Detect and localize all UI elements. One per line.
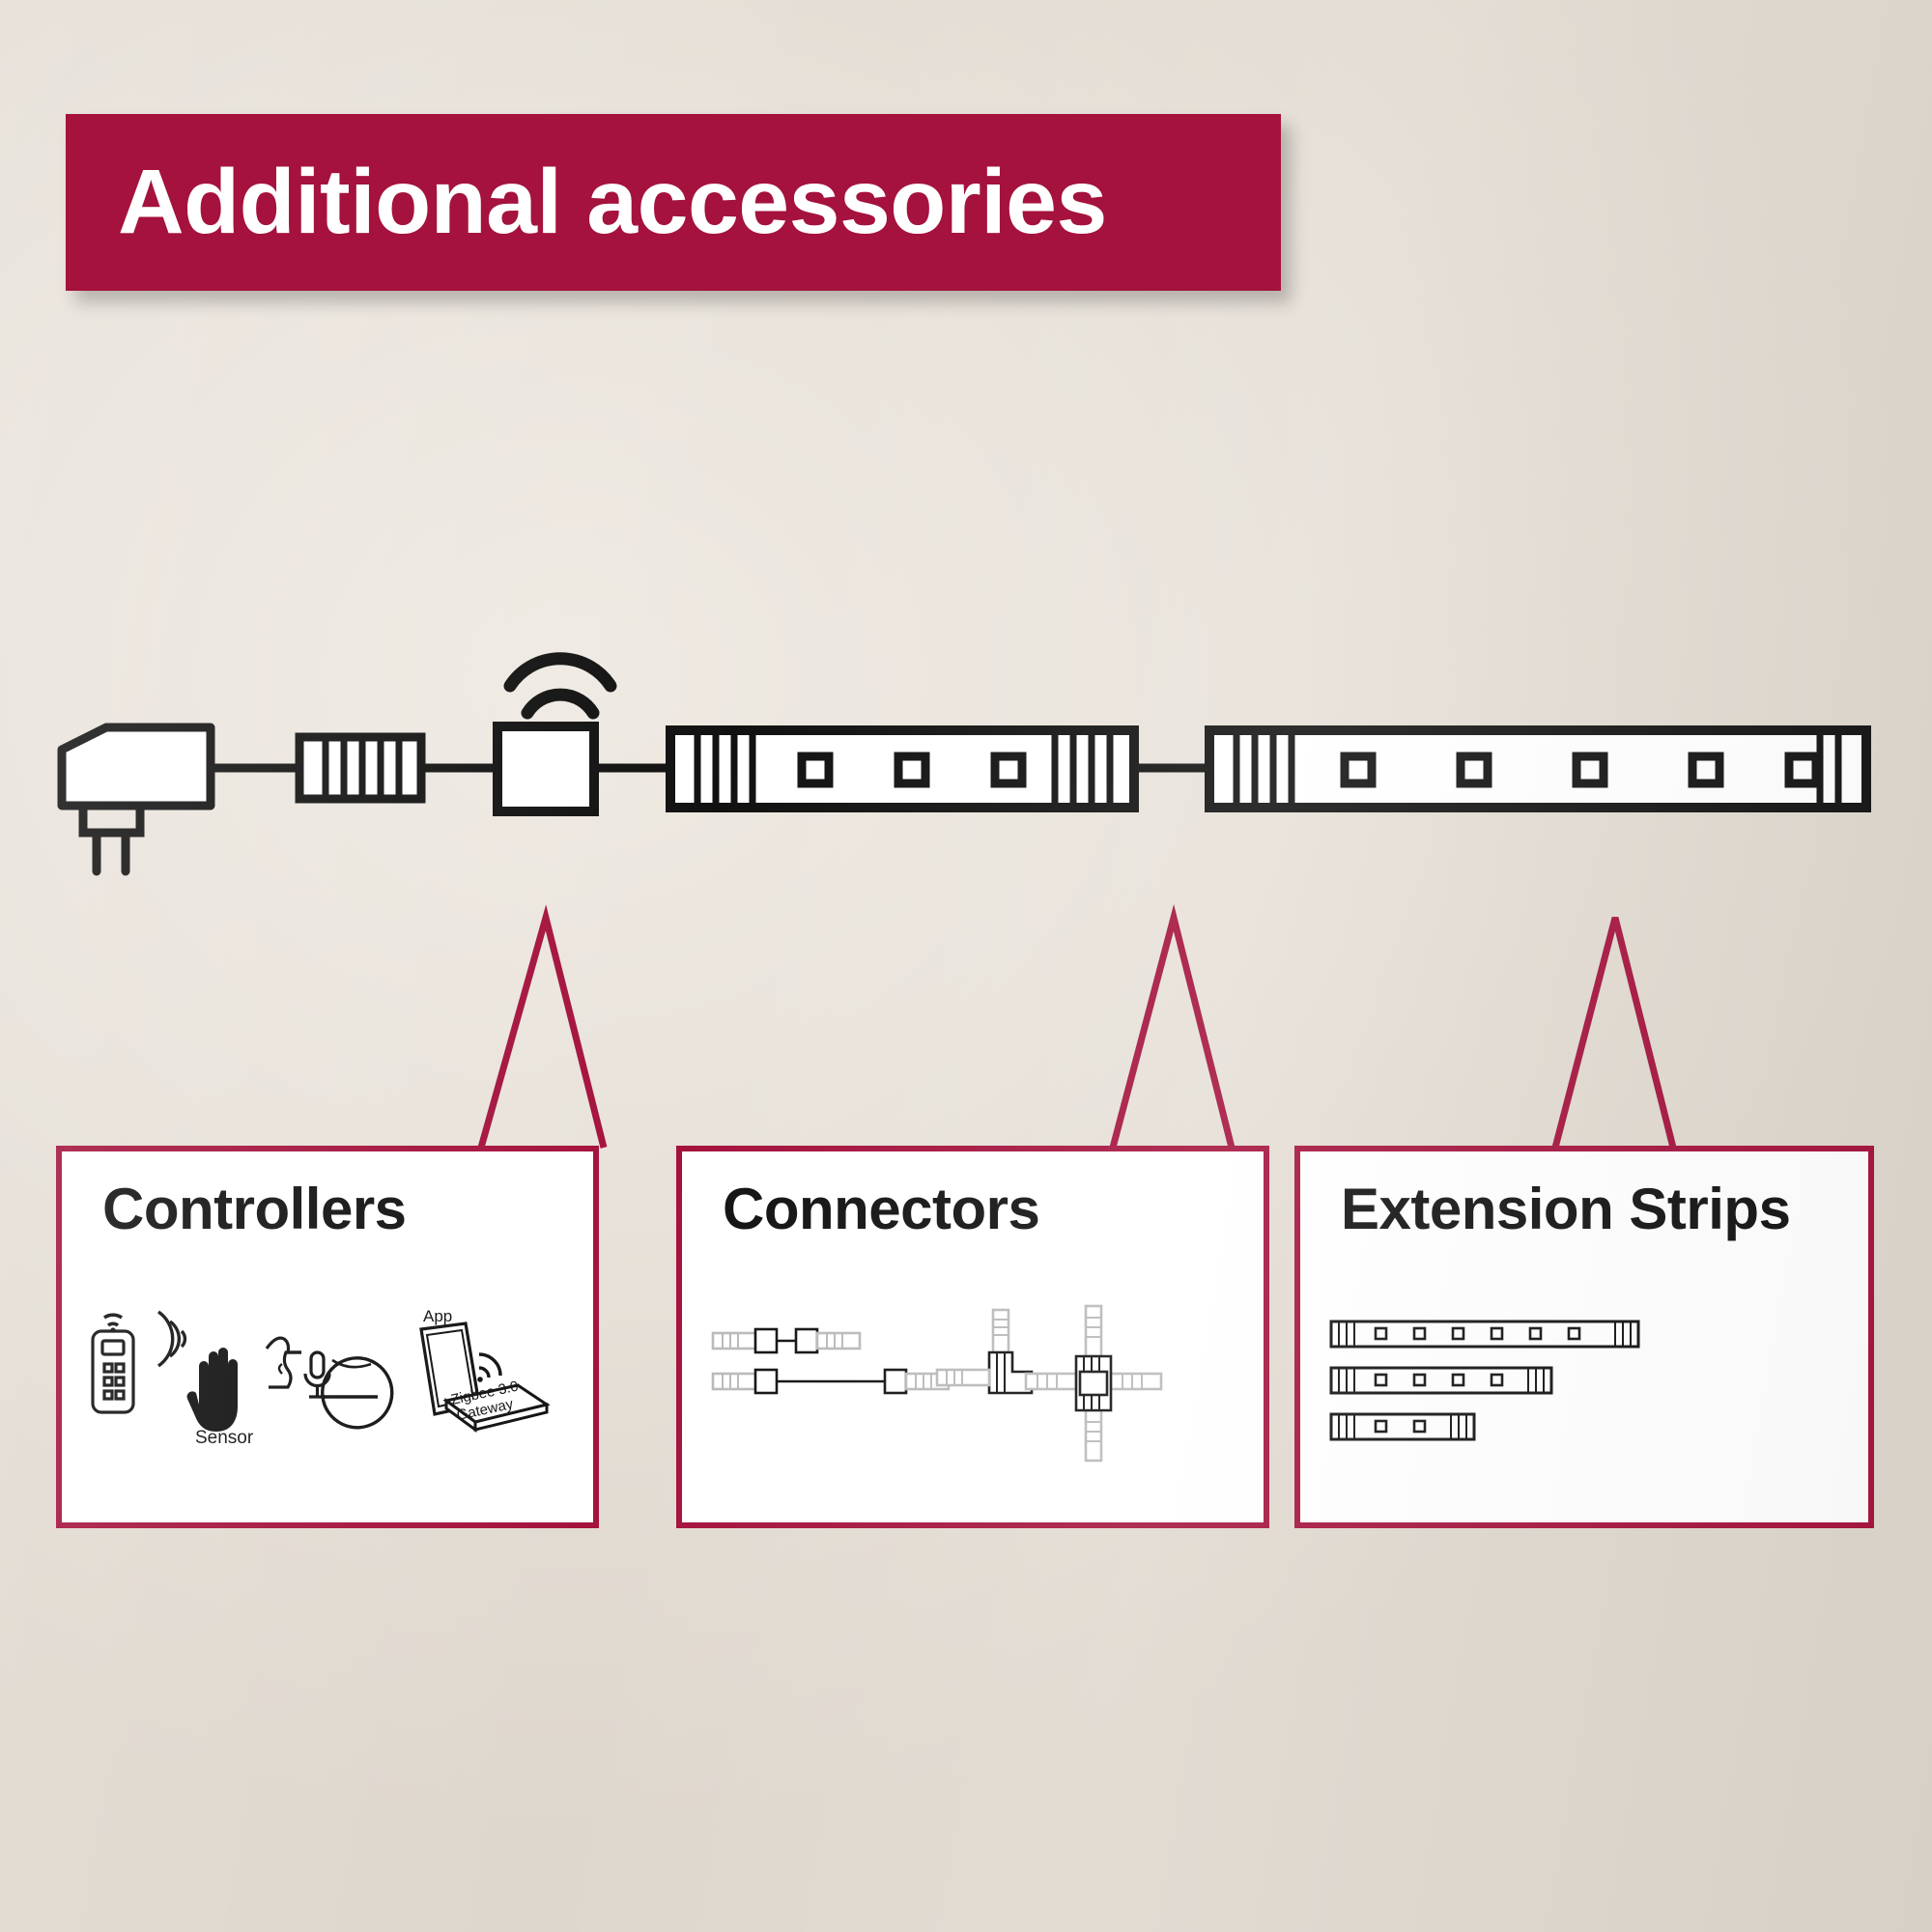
voice-assistant-icon — [267, 1338, 301, 1387]
callout-cards: Controllers — [0, 1140, 1932, 1555]
strip-connector-icon-2 — [1059, 730, 1134, 808]
gateway-wifi-dot-icon — [477, 1377, 483, 1382]
remote-signal-dot-icon — [110, 1327, 115, 1332]
pointer-extension-strips — [1555, 918, 1673, 1148]
schematic-diagram — [0, 618, 1932, 908]
title-banner: Additional accessories — [66, 114, 1281, 291]
controllers-icon-row: Sensor — [62, 1296, 593, 1519]
pointer-connectors — [1113, 918, 1232, 1148]
card-extension-strips[interactable]: Extension Strips — [1294, 1146, 1874, 1528]
wifi-signal-icon — [510, 659, 611, 713]
connectors-icon-row — [682, 1296, 1264, 1519]
pointer-controllers — [481, 918, 604, 1148]
page-title: Additional accessories — [66, 156, 1107, 248]
card-title-controllers: Controllers — [102, 1180, 407, 1238]
poster-canvas: Additional accessories — [0, 0, 1932, 1932]
extension-strip-medium-icon — [1331, 1368, 1551, 1393]
gateway-wifi-icon — [479, 1354, 500, 1378]
strip-connector-icon-1 — [299, 737, 421, 799]
extension-strip-short-icon — [1331, 1414, 1474, 1439]
hand-icon — [187, 1348, 238, 1432]
corner-connector-icon — [937, 1310, 1032, 1393]
card-title-connectors: Connectors — [723, 1180, 1039, 1238]
sensor-label: Sensor — [195, 1428, 254, 1448]
extension-strips-icon-row — [1300, 1296, 1868, 1519]
extension-strip-long-icon — [1331, 1321, 1638, 1347]
card-title-extension-strips: Extension Strips — [1341, 1180, 1790, 1238]
controller-box-icon — [497, 726, 594, 811]
card-controllers[interactable]: Controllers — [56, 1146, 599, 1528]
cross-connector-icon — [1026, 1306, 1161, 1461]
motion-sensor-hand-icon — [158, 1312, 185, 1366]
strip-to-strip-cable-connector-icon — [713, 1329, 949, 1393]
smart-speaker-icon — [323, 1358, 392, 1428]
card-connectors[interactable]: Connectors — [676, 1146, 1269, 1528]
led-strip-extension-icon — [1209, 730, 1866, 808]
power-supply-plug-icon — [62, 727, 211, 806]
app-label: App — [423, 1307, 452, 1325]
